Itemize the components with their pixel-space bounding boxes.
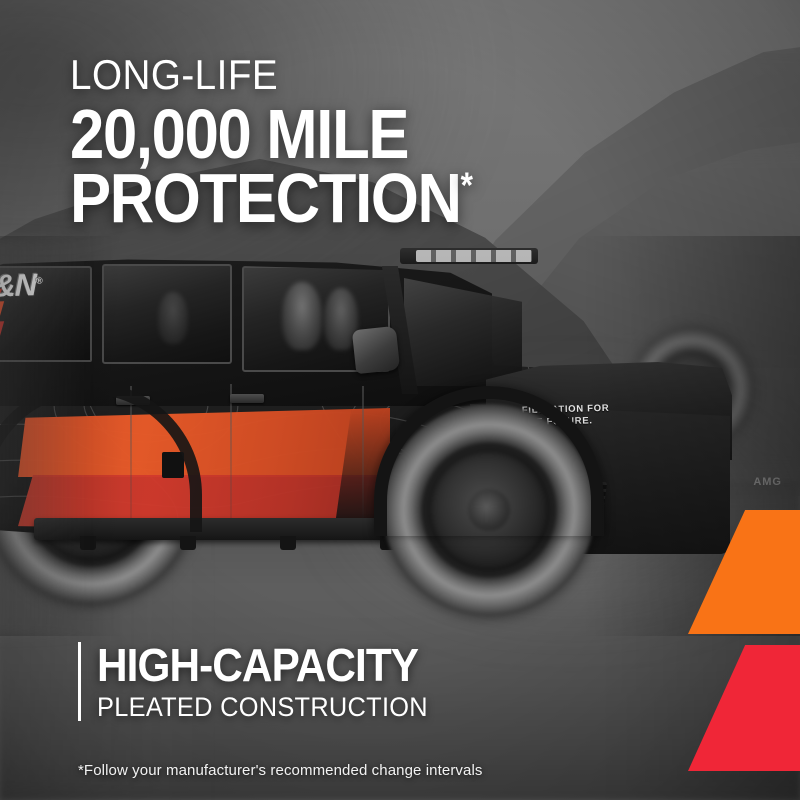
subhead-sub: PLEATED CONSTRUCTION xyxy=(97,694,428,721)
headline-line-1: 20,000 MILE xyxy=(70,102,472,166)
headline-eyebrow: LONG-LIFE xyxy=(70,54,490,96)
text-overlay-layer: LONG-LIFE 20,000 MILE PROTECTION* HIGH-C… xyxy=(0,0,800,800)
ad-canvas: K&N® FILTRATION FOR THE FUTURE. AMG xyxy=(0,0,800,800)
footnote-disclaimer: *Follow your manufacturer's recommended … xyxy=(78,762,482,779)
headline-line-2: PROTECTION* xyxy=(70,166,472,230)
headline-line-2-text: PROTECTION xyxy=(70,159,461,237)
headline-asterisk: * xyxy=(461,165,472,206)
subhead-main: HIGH-CAPACITY xyxy=(97,642,421,688)
headline-block: LONG-LIFE 20,000 MILE PROTECTION* xyxy=(70,54,526,231)
subhead-block: HIGH-CAPACITY PLEATED CONSTRUCTION xyxy=(78,642,449,721)
